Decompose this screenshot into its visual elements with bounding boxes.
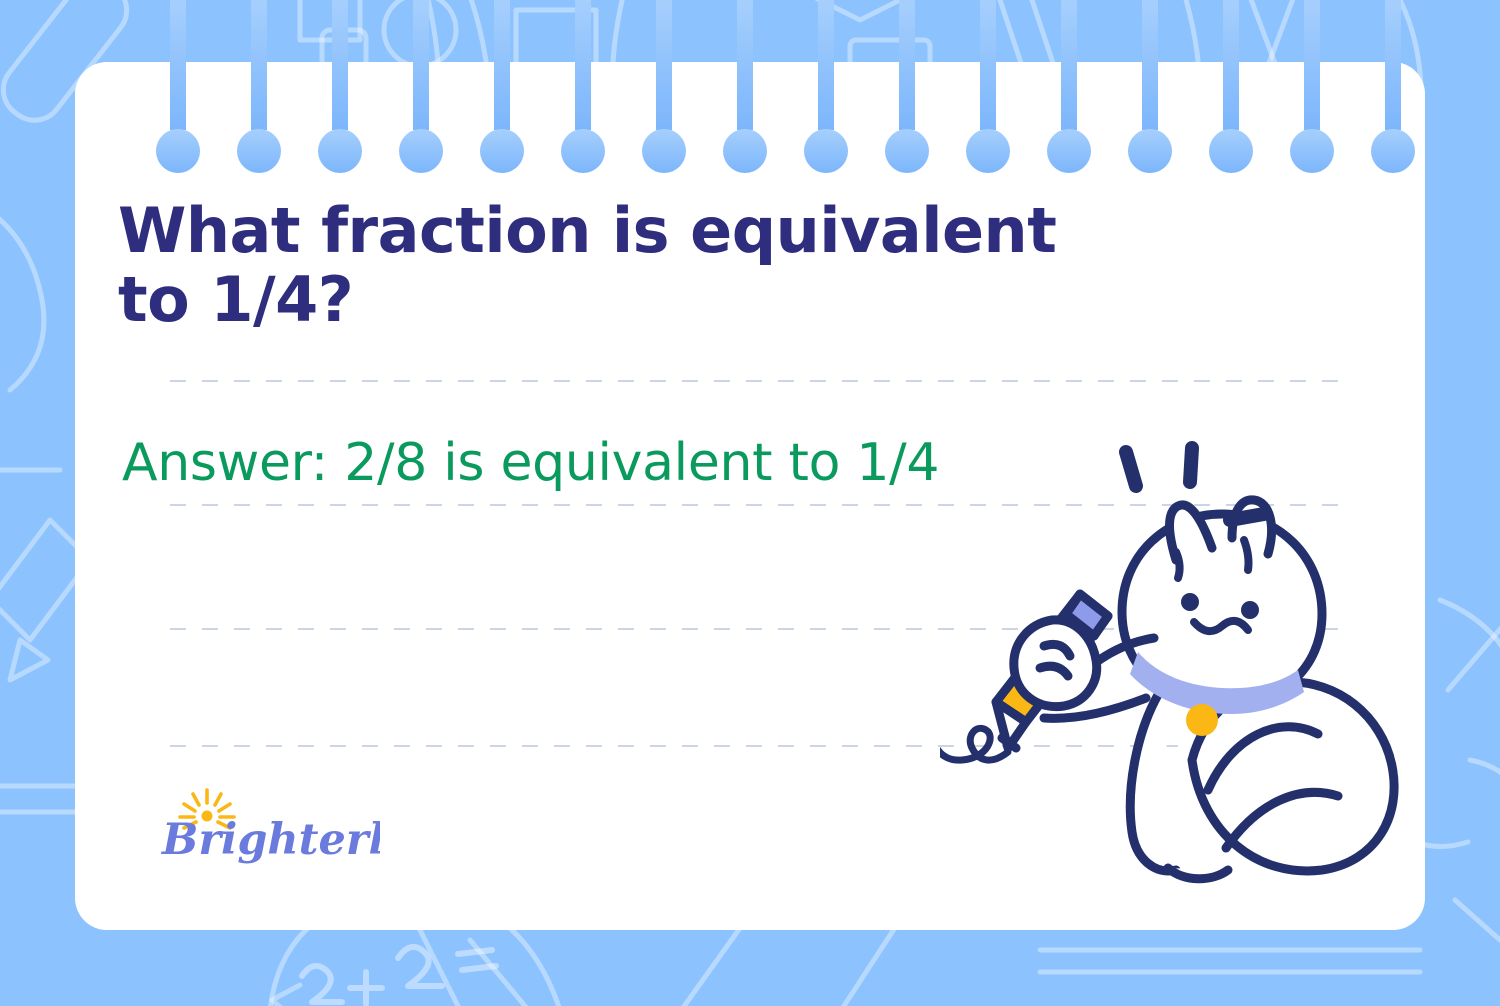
brighterly-logo[interactable]: Brighterly xyxy=(160,786,380,866)
cat-paw-grip xyxy=(1014,620,1097,707)
math-doodle-2plus2 xyxy=(302,947,496,1004)
page-root: What fraction is equivalent to 1/4? Answ… xyxy=(0,0,1500,1006)
cat-ear-inner-left xyxy=(1176,552,1180,578)
cat-with-pencil-illustration xyxy=(940,430,1410,900)
logo-wordmark: Brighterly xyxy=(160,815,380,865)
pencil-scribble xyxy=(940,728,1008,760)
cat-eye-left xyxy=(1181,593,1199,611)
cat-collar-tag xyxy=(1186,704,1218,736)
notebook-rule-line xyxy=(170,380,1350,382)
cat-paw xyxy=(1168,868,1228,879)
cat-ear-inner-right xyxy=(1244,540,1249,570)
cat-eye-right xyxy=(1241,601,1259,619)
cat-front-leg xyxy=(1130,688,1176,871)
question-text: What fraction is equivalent to 1/4? xyxy=(118,196,1118,335)
